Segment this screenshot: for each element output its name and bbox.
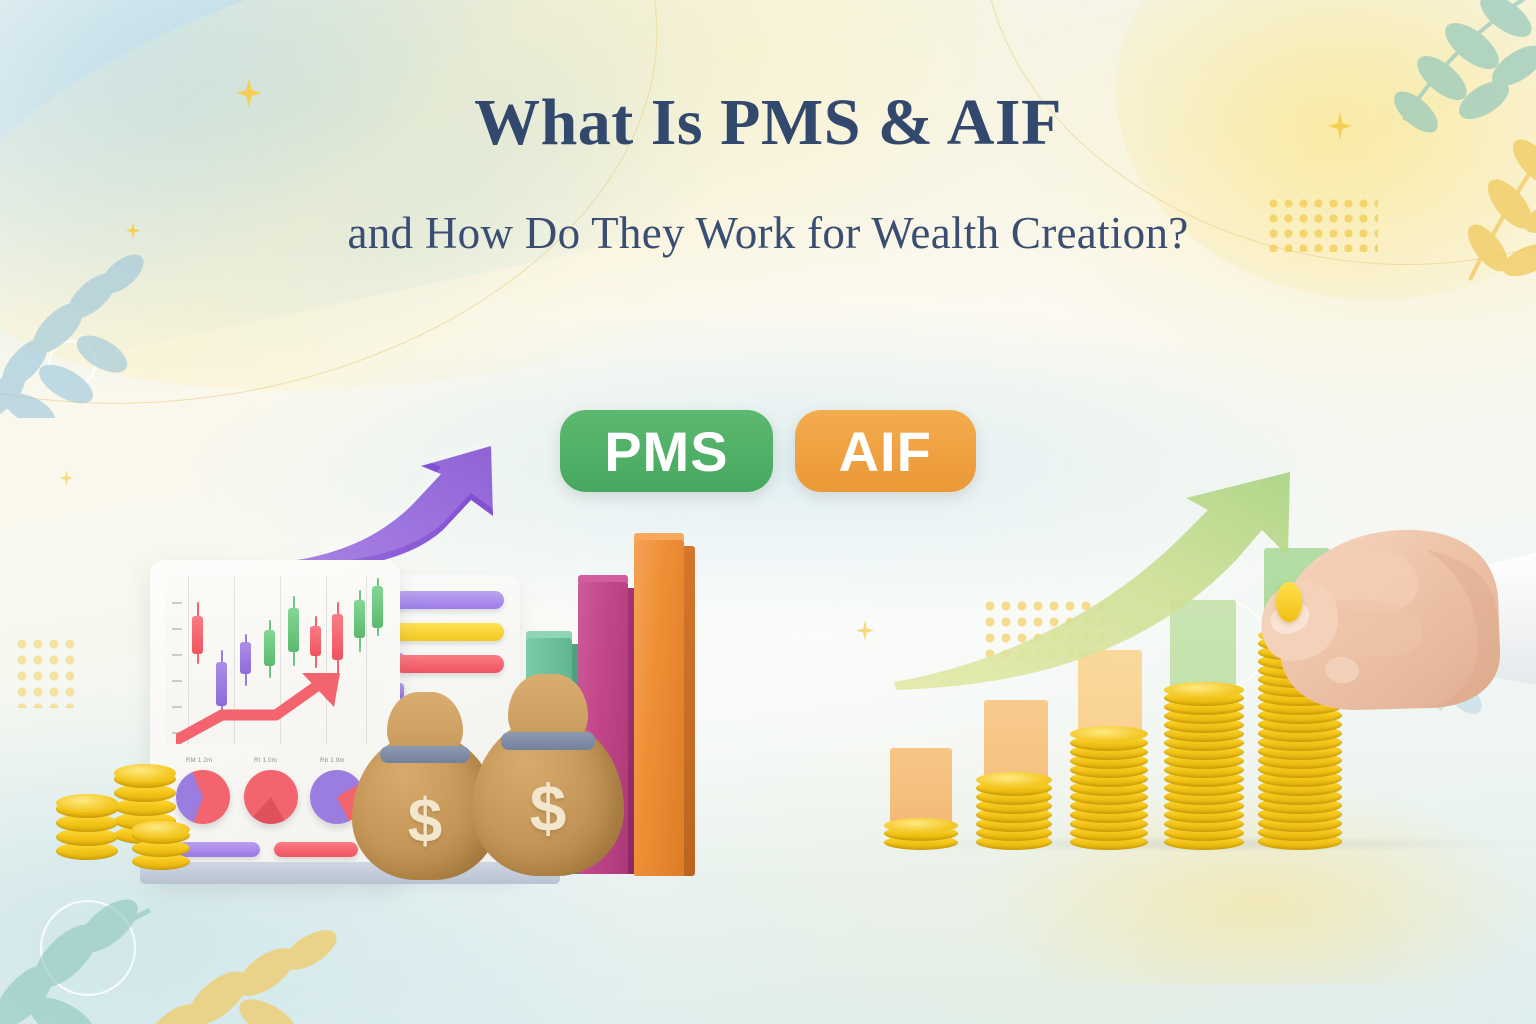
badge-group: PMS AIF — [0, 410, 1536, 492]
coin-stack-1 — [884, 816, 958, 850]
pie-label: Rb 1.9m — [320, 758, 345, 764]
decor-ring-left — [48, 340, 96, 388]
money-bag-tie — [501, 732, 595, 751]
pie-label: RM 1.2m — [186, 758, 212, 764]
page-subtitle: and How Do They Work for Wealth Creation… — [0, 207, 1536, 259]
coin-stack-3 — [1070, 720, 1148, 850]
banner-root: What Is PMS & AIF and How Do They Work f… — [0, 0, 1536, 1024]
page-header: What Is PMS & AIF and How Do They Work f… — [0, 88, 1536, 259]
legend-pill-yellow — [394, 623, 504, 641]
badge-aif-label: AIF — [839, 419, 932, 484]
money-bag-dollar-symbol: $ — [472, 770, 624, 846]
coin-stack-4 — [1164, 672, 1244, 850]
badge-pms[interactable]: PMS — [560, 410, 772, 492]
pie-chart-2 — [244, 770, 298, 824]
held-coin — [1276, 582, 1302, 622]
coin-stack-2 — [976, 768, 1052, 850]
legend-pill-purple — [394, 591, 504, 609]
sparkle-icon — [856, 620, 874, 641]
badge-pms-label: PMS — [604, 419, 728, 484]
bottom-pill-red — [274, 842, 358, 857]
money-bag-tie — [380, 746, 471, 763]
page-title: What Is PMS & AIF — [0, 88, 1536, 157]
badge-aif[interactable]: AIF — [795, 410, 976, 492]
coin-stack-right — [132, 808, 190, 870]
analytics-dashboard-illustration: RM 1.2m Rt 1.0m Rb 1.9m — [40, 430, 730, 950]
bar-orange — [634, 540, 684, 876]
money-bag-right: $ — [472, 670, 624, 876]
pie-label: Rt 1.0m — [254, 758, 277, 764]
hand-placing-coin-icon — [1246, 510, 1536, 770]
growth-coins-illustration — [880, 480, 1536, 900]
coin-stack-left — [56, 780, 118, 860]
